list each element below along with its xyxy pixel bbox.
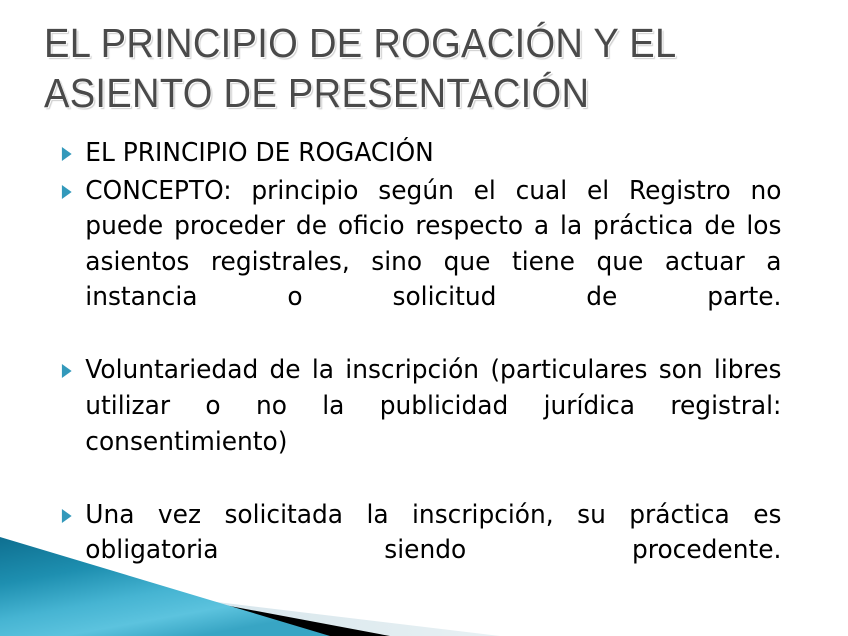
list-item: CONCEPTO: principio según el cual el Reg… — [58, 174, 781, 352]
triangle-right-icon — [62, 509, 72, 523]
presentation-slide: EL PRINCIPIO DE ROGACIÓN Y EL ASIENTO DE… — [0, 0, 848, 636]
page-title: EL PRINCIPIO DE ROGACIÓN Y EL ASIENTO DE… — [44, 18, 760, 118]
triangle-right-icon — [62, 147, 72, 161]
list-item-text: CONCEPTO: principio según el cual el Reg… — [85, 174, 781, 352]
list-item-text: EL PRINCIPIO DE ROGACIÓN — [85, 136, 781, 172]
list-item: Una vez solicitada la inscripción, su pr… — [58, 498, 781, 605]
list-item-text: Voluntariedad de la inscripción (particu… — [85, 353, 781, 495]
triangle-right-icon — [62, 185, 72, 199]
triangle-right-icon — [62, 364, 72, 378]
bullet-list: EL PRINCIPIO DE ROGACIÓN CONCEPTO: princ… — [58, 136, 800, 606]
list-item: EL PRINCIPIO DE ROGACIÓN — [58, 136, 781, 172]
list-item-text: Una vez solicitada la inscripción, su pr… — [85, 498, 781, 605]
list-item: Voluntariedad de la inscripción (particu… — [58, 353, 781, 495]
